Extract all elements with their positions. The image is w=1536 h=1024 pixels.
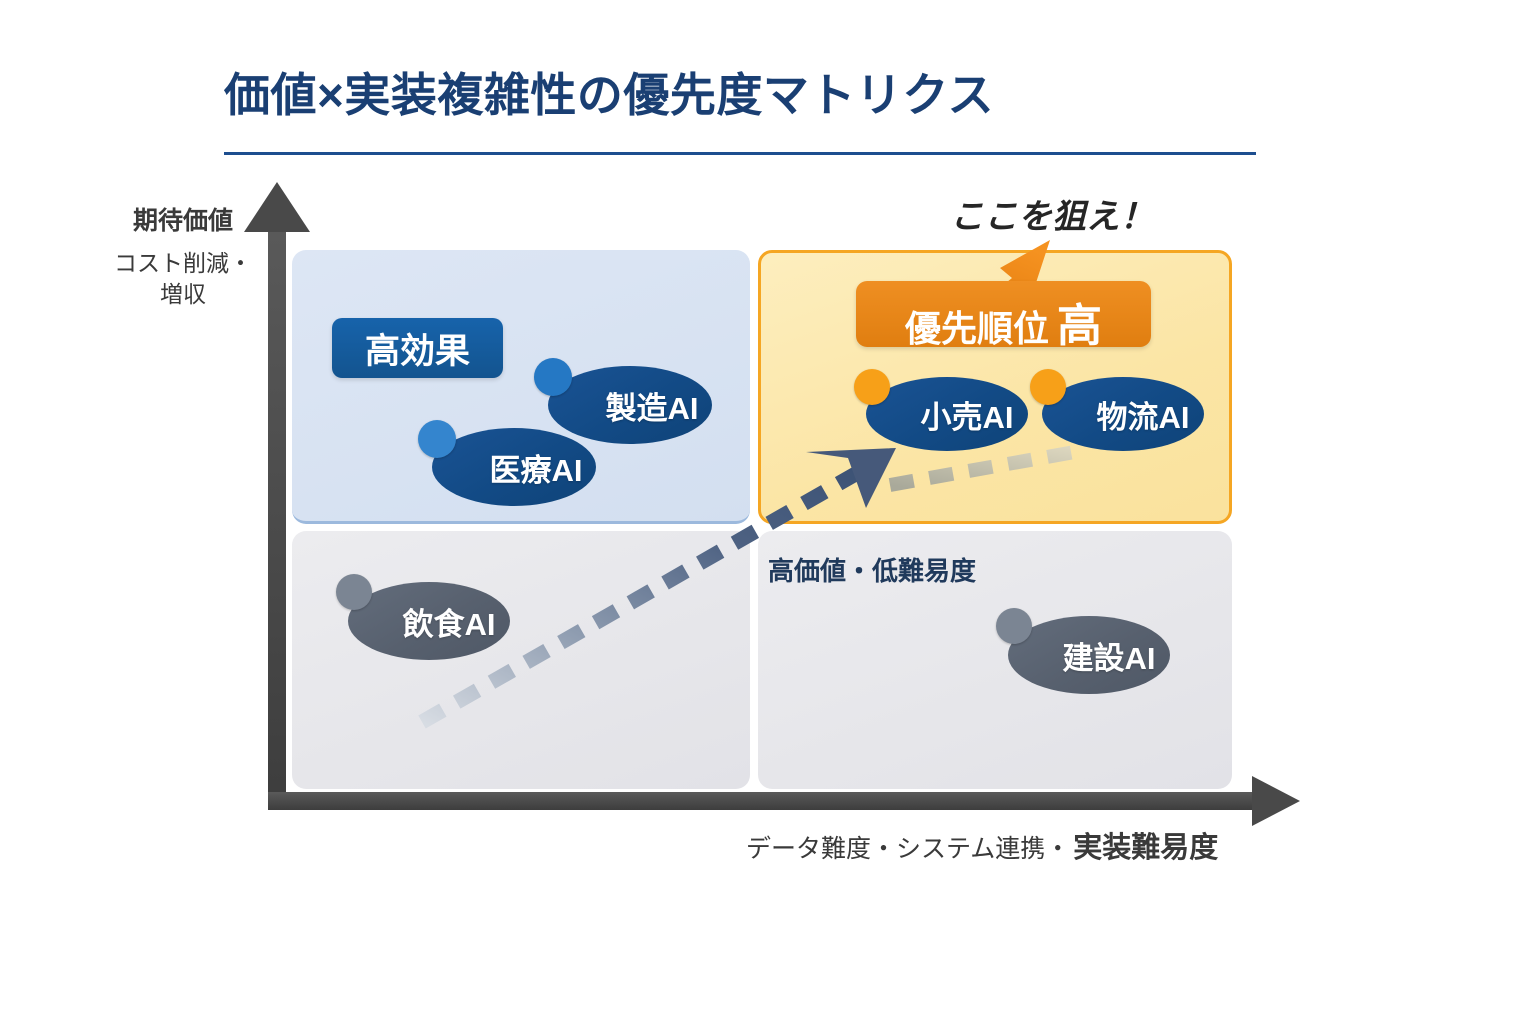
caption-high-value-low-difficulty: 高価値・低難易度 [768, 551, 976, 588]
y-axis-title: 期待価値 [104, 206, 262, 236]
y-axis-subtitle-line2: 増収 [104, 279, 262, 310]
y-axis-label: 期待価値 コスト削減・ 増収 [104, 206, 262, 310]
x-axis-label: データ難度・システム連携・ 実装難易度 [746, 824, 1218, 866]
badge-priority-label: 優先順位 [905, 300, 1049, 352]
title-block: 価値×実装複雑性の優先度マトリクス [224, 70, 1256, 121]
bubble-medical-ai[interactable]: 医療AI [432, 428, 596, 506]
title-underline [224, 152, 1256, 155]
bubble-construction-ai[interactable]: 建設AI [1008, 616, 1170, 694]
bubble-label: 飲食AI [348, 582, 530, 660]
bubble-retail-ai[interactable]: 小売AI [866, 377, 1028, 451]
bubble-restaurant-ai[interactable]: 飲食AI [348, 582, 510, 660]
priority-matrix-slide: 価値×実装複雑性の優先度マトリクス [0, 0, 1536, 1024]
bubble-logistics-ai[interactable]: 物流AI [1042, 377, 1204, 451]
x-axis-title: 実装難易度 [1073, 824, 1218, 866]
page-title: 価値×実装複雑性の優先度マトリクス [224, 70, 1256, 121]
badge-high-effect[interactable]: 高効果 [332, 318, 503, 378]
y-axis-subtitle-line1: コスト削減・ [104, 248, 262, 279]
bubble-label: 建設AI [1008, 616, 1190, 694]
quadrant-bottom-left [292, 531, 750, 789]
bubble-label: 物流AI [1042, 377, 1224, 451]
bubble-label: 医療AI [432, 428, 618, 506]
x-axis-subtitle: データ難度・システム連携・ [746, 829, 1070, 865]
badge-priority-level: 高 [1057, 289, 1102, 354]
badge-priority-high[interactable]: 優先順位 高 [856, 281, 1151, 347]
annotation-aim-here: ここを狙え！ [950, 189, 1154, 238]
y-axis-subtitle: コスト削減・ 増収 [104, 248, 262, 310]
bubble-label: 小売AI [866, 377, 1048, 451]
